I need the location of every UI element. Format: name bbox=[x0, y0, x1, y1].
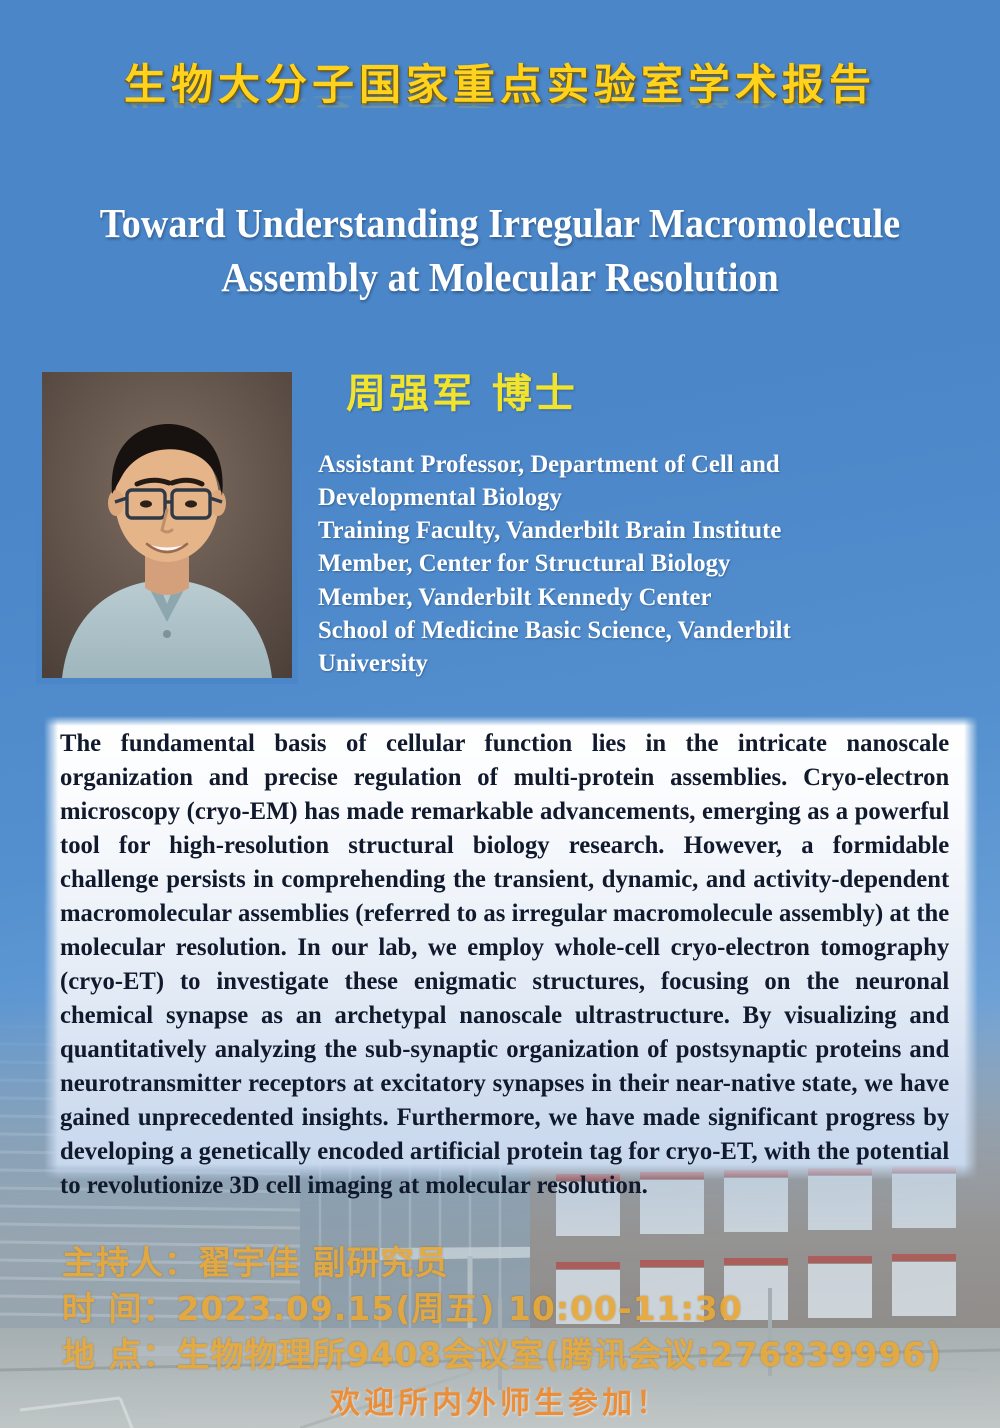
portrait-illustration bbox=[42, 372, 292, 678]
affiliation-line: Assistant Professor, Department of Cell … bbox=[318, 447, 966, 480]
host-line: 主持人：翟宇佳 副研究员 bbox=[62, 1240, 942, 1286]
seminar-poster: 生物大分子国家重点实验室学术报告 生物大分子国家重点实验室学术报告 Toward… bbox=[0, 0, 1000, 1428]
abstract-text: The fundamental basis of cellular functi… bbox=[60, 726, 949, 1202]
speaker-affiliations: Assistant Professor, Department of Cell … bbox=[318, 447, 966, 679]
affiliation-line: Member, Vanderbilt Kennedy Center bbox=[318, 580, 966, 613]
welcome-note: 欢迎所内外师生参加！ bbox=[0, 1378, 1000, 1422]
affiliation-line: Training Faculty, Vanderbilt Brain Insti… bbox=[318, 513, 966, 546]
banner-title-reflection: 生物大分子国家重点实验室学术报告 bbox=[0, 85, 1000, 108]
banner: 生物大分子国家重点实验室学术报告 生物大分子国家重点实验室学术报告 bbox=[0, 64, 1000, 174]
affiliation-line: University bbox=[318, 646, 966, 679]
event-details: 主持人：翟宇佳 副研究员 时 间：2023.09.15(周五) 10:00-11… bbox=[62, 1240, 942, 1379]
affiliation-line: School of Medicine Basic Science, Vander… bbox=[318, 613, 966, 646]
venue-line: 地 点：生物物理所9408会议室(腾讯会议:276839996) bbox=[62, 1332, 942, 1378]
time-line: 时 间：2023.09.15(周五) 10:00-11:30 bbox=[62, 1286, 942, 1332]
speaker-photo bbox=[36, 366, 298, 684]
affiliation-line: Developmental Biology bbox=[318, 480, 966, 513]
page-title: Toward Understanding Irregular Macromole… bbox=[59, 196, 941, 304]
speaker-name: 周强军 博士 bbox=[346, 361, 578, 419]
title-line-2: Assembly at Molecular Resolution bbox=[59, 250, 941, 304]
title-line-1: Toward Understanding Irregular Macromole… bbox=[59, 196, 941, 250]
affiliation-line: Member, Center for Structural Biology bbox=[318, 546, 966, 579]
